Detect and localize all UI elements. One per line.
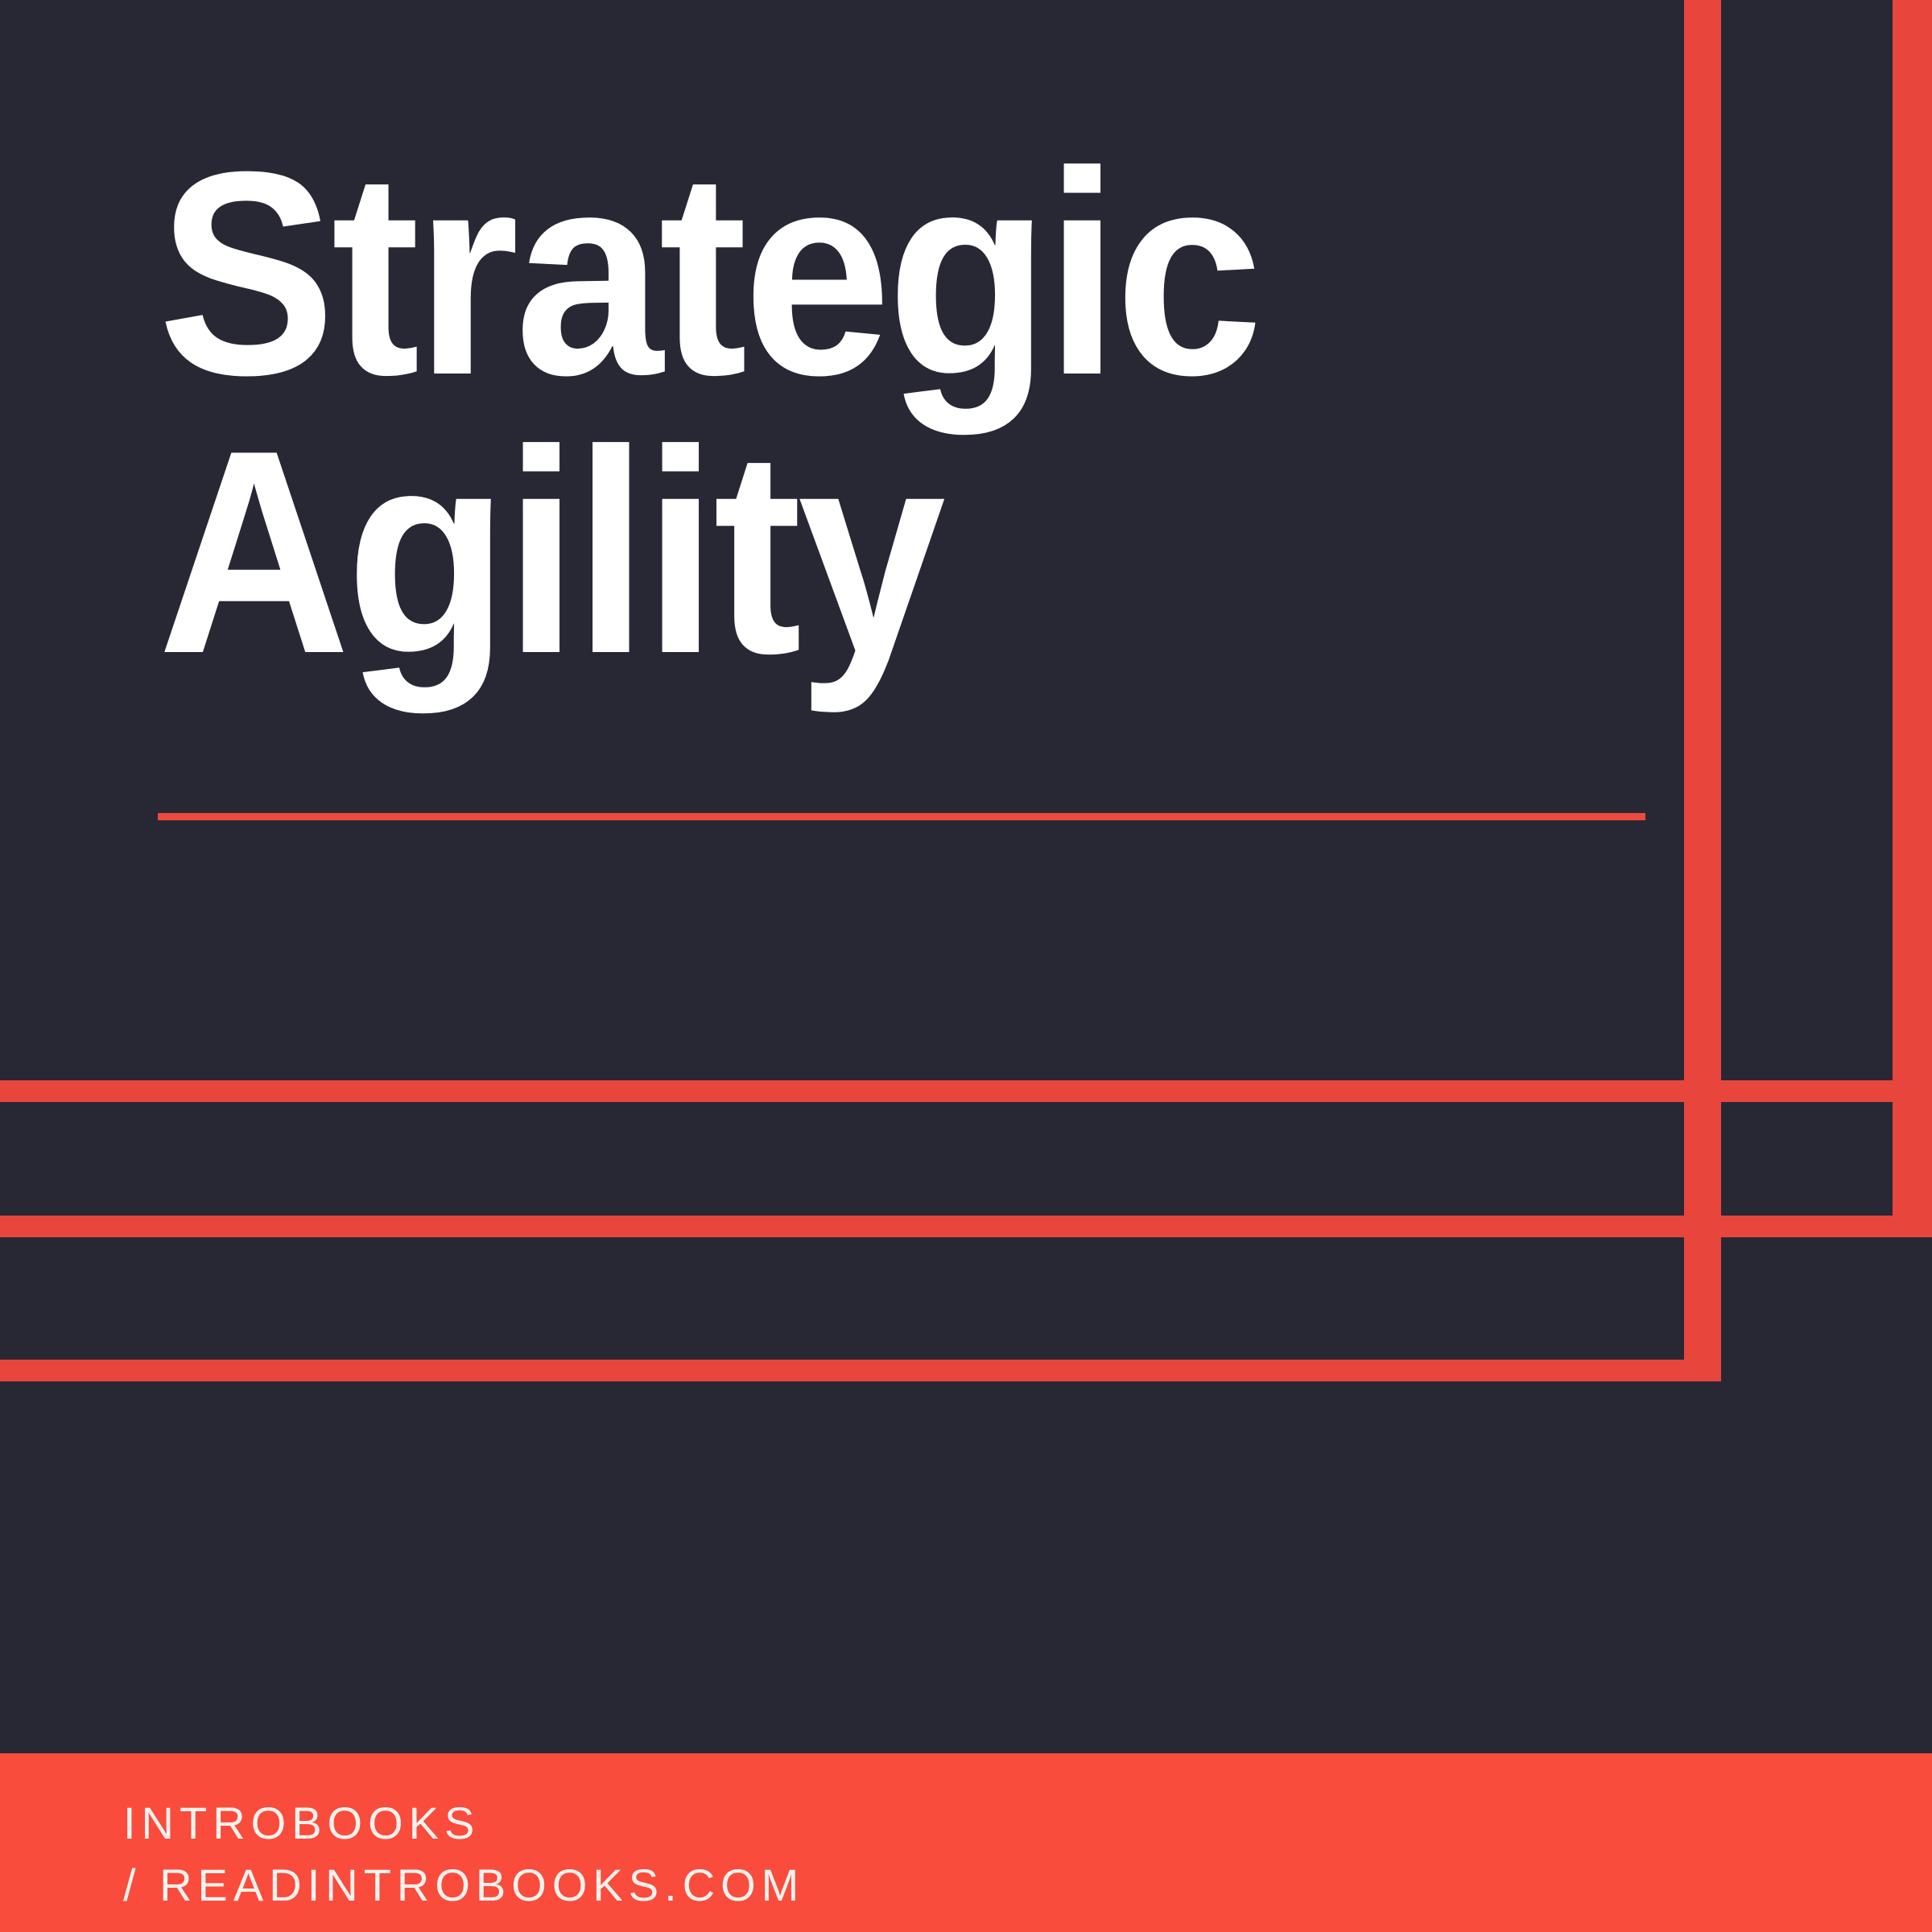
page-title: Strategic Agility — [158, 135, 1687, 691]
footer-credits: INTROBOOKS / READINTROBOOKS.COM — [123, 1792, 804, 1917]
vertical-accent-rule-outer — [1893, 0, 1932, 1237]
publisher-name: INTROBOOKS — [123, 1792, 804, 1854]
horizontal-accent-rule-bottom — [0, 1360, 1721, 1381]
title-line-1: Strategic — [158, 135, 1565, 414]
title-underline-rule — [158, 813, 1645, 820]
title-line-2: Agility — [158, 414, 1565, 692]
book-cover: Strategic Agility INTROBOOKS / READINTRO… — [0, 0, 1932, 1932]
vertical-accent-rule-inner — [1684, 0, 1721, 1381]
horizontal-accent-rule-top — [0, 1080, 1932, 1102]
publisher-website: / READINTROBOOKS.COM — [123, 1854, 804, 1916]
horizontal-accent-rule-middle — [0, 1216, 1932, 1237]
